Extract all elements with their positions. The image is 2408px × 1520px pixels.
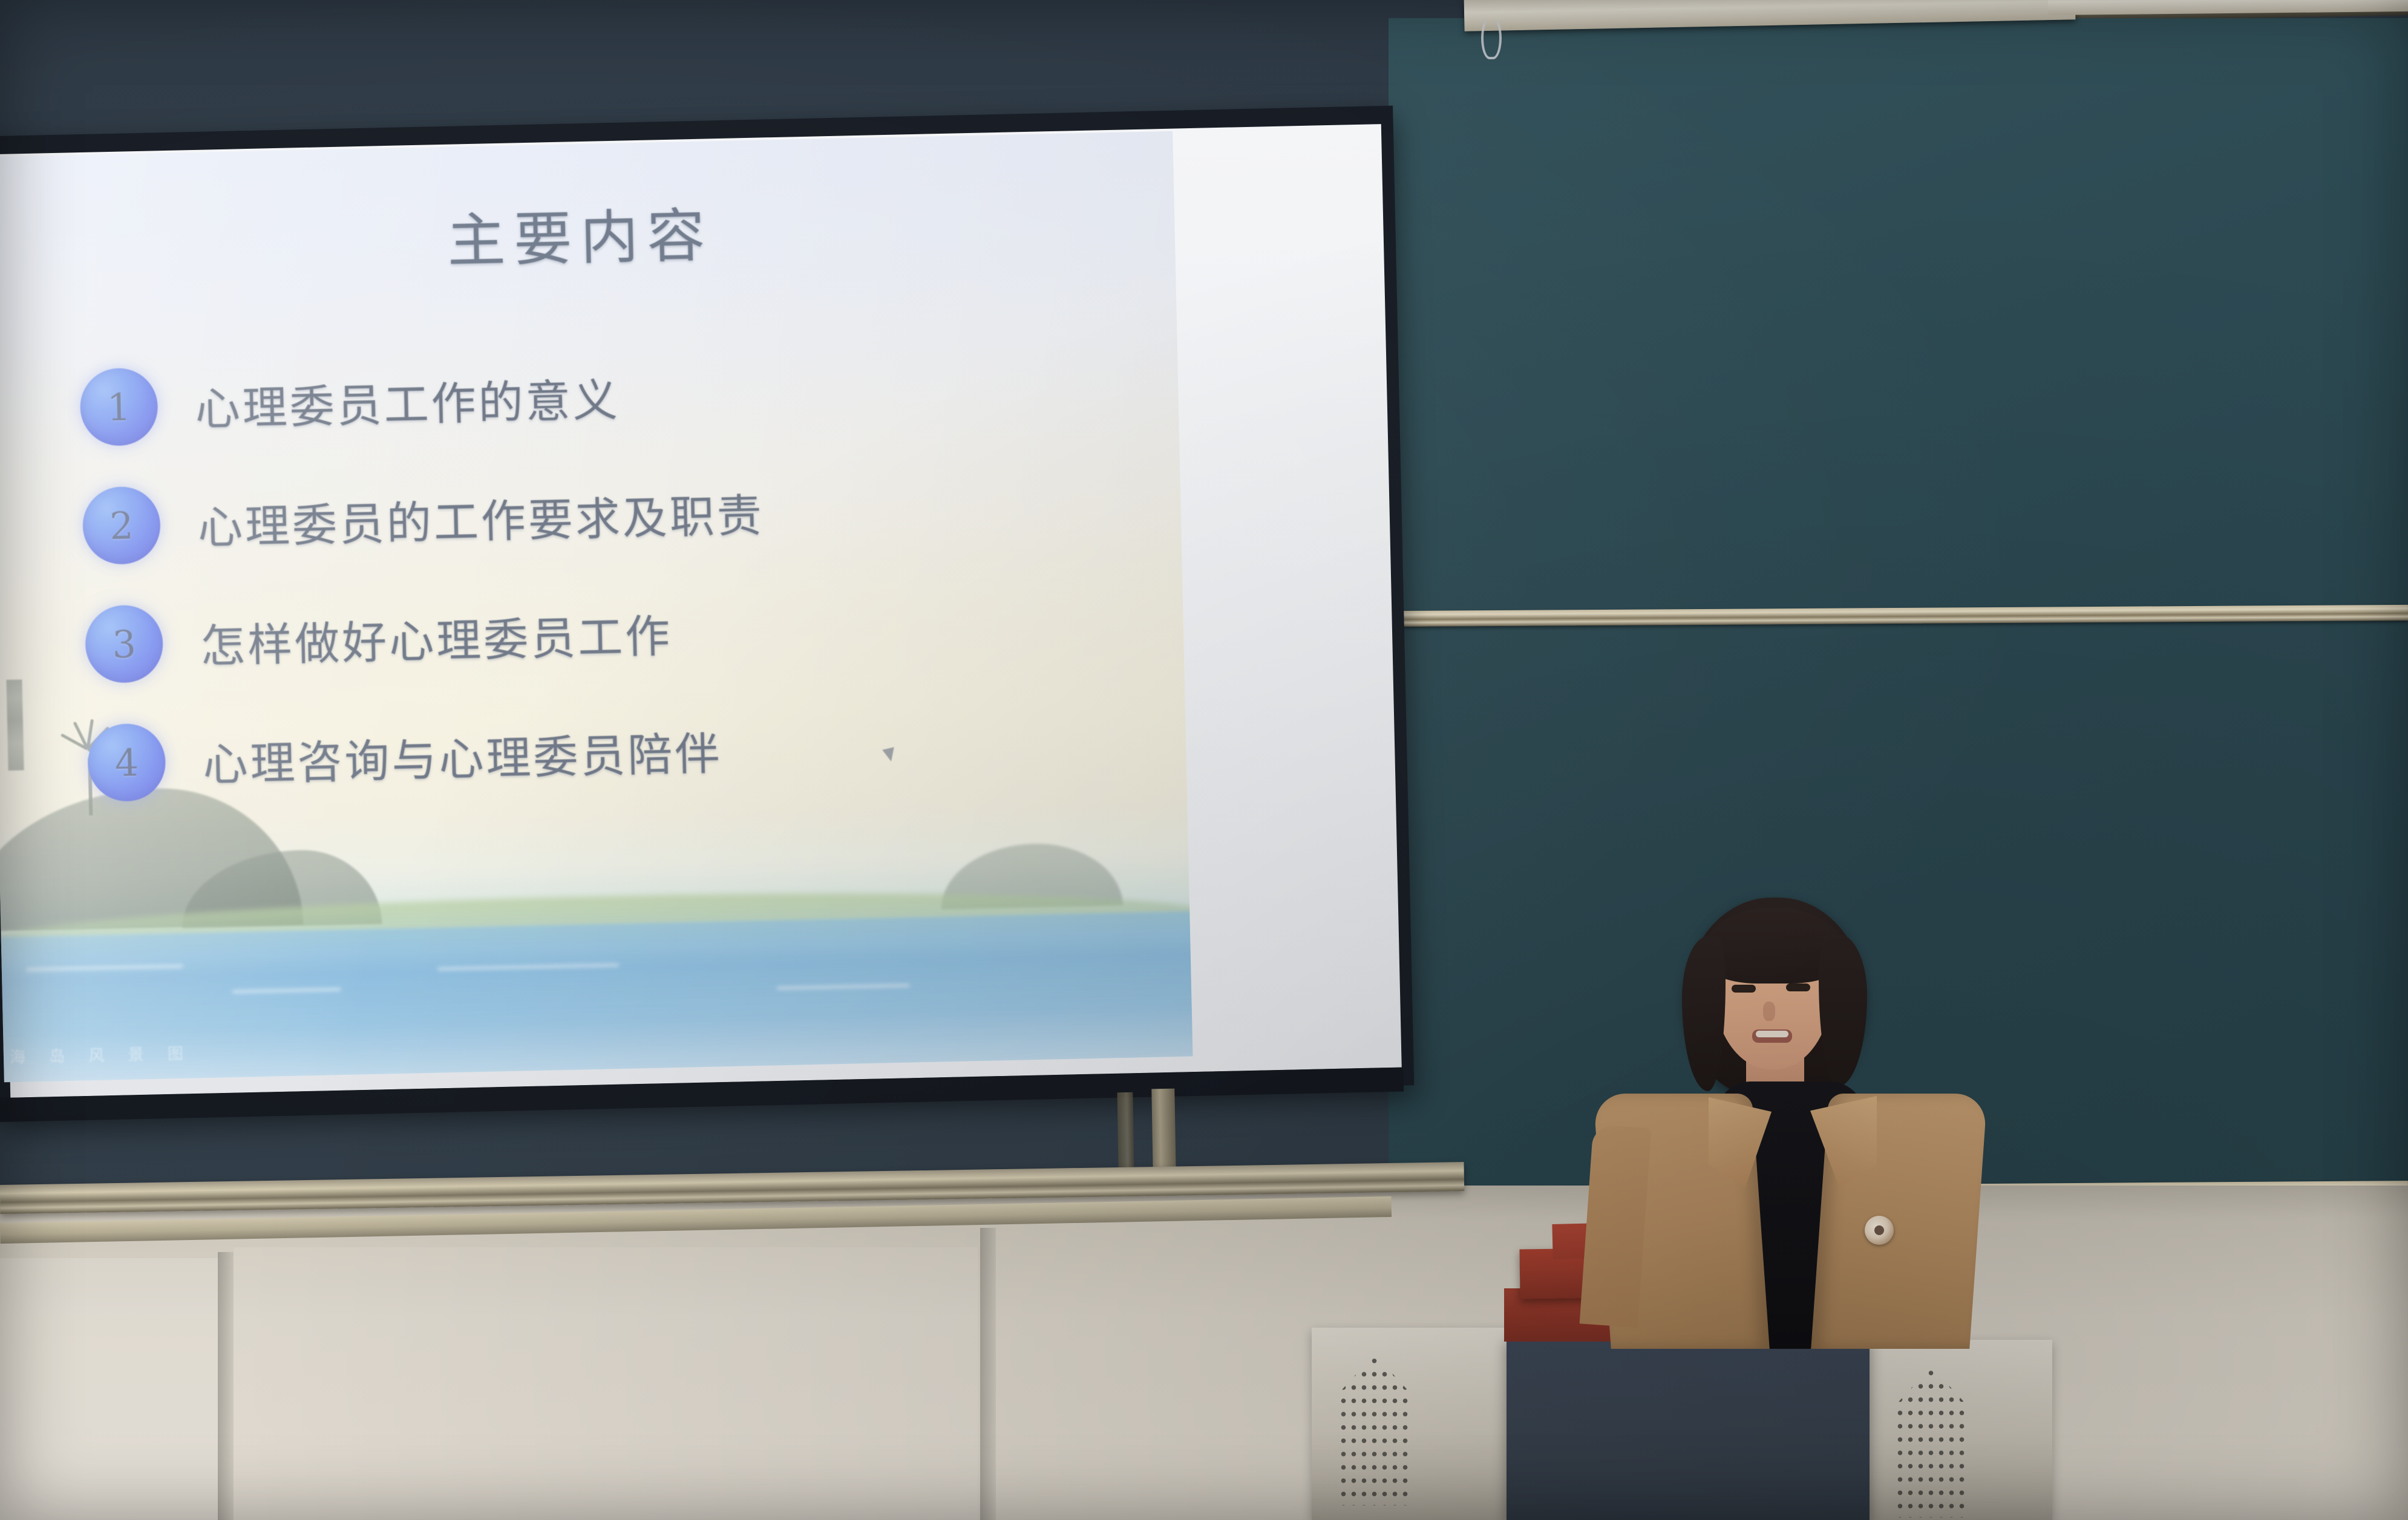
toc-label-2: 心理委员的工作要求及职责 <box>197 479 765 556</box>
toc-item-1[interactable]: 1 心理委员工作的意义 <box>79 327 1079 467</box>
screen-pull-cord[interactable] <box>1481 17 1502 59</box>
presentation-slide: 海 岛 风 景 图 主要内容 1 心理委员工作的意义 2 心理委员的工作要求及职… <box>0 131 1193 1083</box>
toc-badge-number-1: 1 <box>106 385 131 429</box>
presenter <box>1573 889 2009 1349</box>
toc-badge-number-4: 4 <box>114 740 139 785</box>
speaker-grille-icon-right <box>1895 1366 1968 1518</box>
wall-panel-center <box>234 1247 978 1520</box>
wall-panel-left <box>0 1258 218 1520</box>
toc-label-4: 心理咨询与心理委员陪伴 <box>202 717 722 794</box>
slide-toc-list: 1 心理委员工作的意义 2 心理委员的工作要求及职责 3 怎样做好心理委员工作 … <box>79 327 1087 823</box>
slide-watermark-text: 海 岛 风 景 图 <box>10 1041 194 1068</box>
presenter-eye-right <box>1786 983 1810 991</box>
lecture-hall-scene: 海 岛 风 景 图 主要内容 1 心理委员工作的意义 2 心理委员的工作要求及职… <box>0 0 2408 1520</box>
podium-body <box>1507 1337 1870 1520</box>
presenter-coat <box>1602 1094 1978 1349</box>
presenter-brooch-icon <box>1865 1216 1894 1245</box>
toc-label-3: 怎样做好心理委员工作 <box>200 600 673 675</box>
speaker-grille-icon-left <box>1338 1354 1411 1505</box>
toc-badge-2: 2 <box>82 486 162 565</box>
presenter-hair-side-right <box>1819 934 1867 1086</box>
presenter-eye-left <box>1732 985 1756 993</box>
toc-badge-3: 3 <box>85 604 164 683</box>
toc-item-4[interactable]: 4 心理咨询与心理委员陪伴 <box>87 682 1087 823</box>
wall-seam-left <box>218 1252 234 1520</box>
toc-item-3[interactable]: 3 怎样做好心理委员工作 <box>84 564 1085 704</box>
wall-seam-right <box>980 1228 996 1520</box>
presenter-nose <box>1763 1002 1775 1021</box>
toc-label-1: 心理委员工作的意义 <box>194 364 620 437</box>
podium-speaker-panel-right <box>1859 1340 2052 1520</box>
presenter-teeth <box>1756 1031 1788 1037</box>
podium-speaker-panel-left <box>1312 1328 1517 1520</box>
toc-badge-number-2: 2 <box>109 503 134 548</box>
toc-item-2[interactable]: 2 心理委员的工作要求及职责 <box>82 445 1082 585</box>
toc-badge-number-3: 3 <box>112 622 137 667</box>
toc-badge-1: 1 <box>79 367 159 446</box>
toc-badge-4: 4 <box>87 723 166 802</box>
slide-title: 主要内容 <box>0 178 1176 289</box>
lighthouse-icon <box>6 679 24 771</box>
